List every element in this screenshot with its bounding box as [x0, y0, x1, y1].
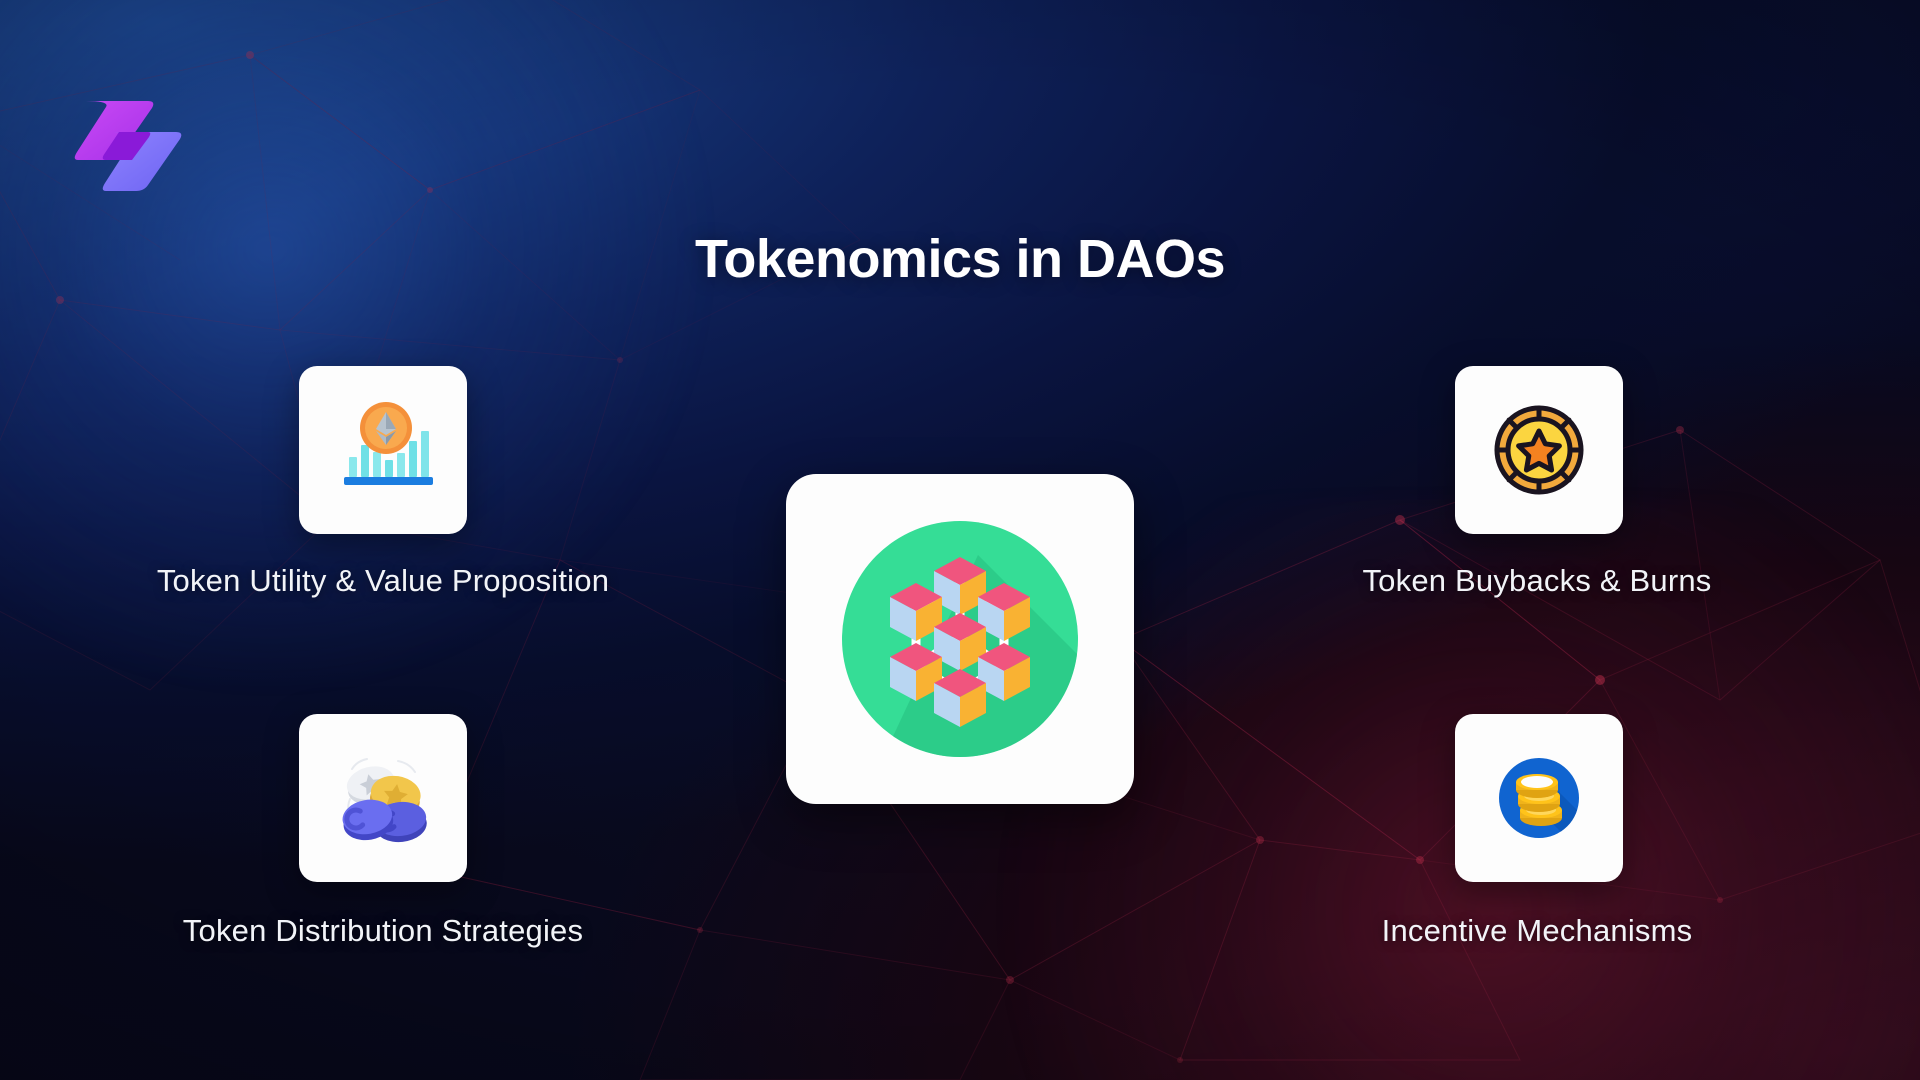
scattered-coins-icon — [330, 745, 436, 851]
label-token-distribution: Token Distribution Strategies — [0, 913, 766, 949]
brand-logo[interactable] — [72, 96, 188, 196]
card-incentive-mechanisms[interactable] — [1455, 714, 1623, 882]
gold-star-coin-icon — [1487, 398, 1591, 502]
card-blockchain-network[interactable] — [786, 474, 1134, 804]
card-token-utility[interactable] — [299, 366, 467, 534]
label-token-buybacks: Token Buybacks & Burns — [1154, 563, 1920, 599]
card-token-buybacks[interactable] — [1455, 366, 1623, 534]
blockchain-cubes-icon — [828, 507, 1092, 771]
stacked-coins-circle-icon — [1485, 744, 1593, 852]
ethereum-coin-bar-chart-icon — [328, 395, 438, 505]
slide-root: Tokenomics in DAOs Token U — [0, 0, 1920, 1080]
label-token-utility: Token Utility & Value Proposition — [0, 563, 766, 599]
card-token-distribution[interactable] — [299, 714, 467, 882]
page-title: Tokenomics in DAOs — [0, 228, 1920, 290]
label-incentive-mechanisms: Incentive Mechanisms — [1154, 913, 1920, 949]
